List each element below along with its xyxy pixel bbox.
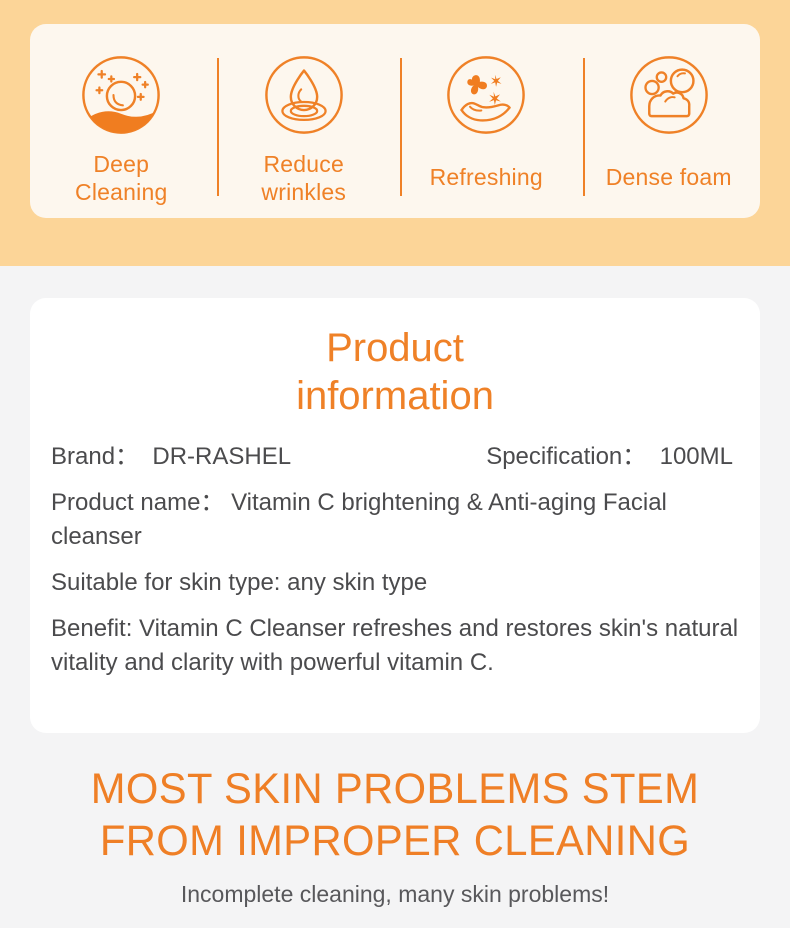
specification-value: Specification： 100ML <box>486 440 739 474</box>
feature-item-reduce-wrinkles[interactable]: Reduce wrinkles <box>213 24 396 218</box>
skin-type-value: Suitable for skin type: any skin type <box>51 566 739 600</box>
brand-specification-row: Brand： DR-RASHEL Specification： 100ML <box>51 440 739 474</box>
foam-bubbles-icon <box>622 48 716 142</box>
feature-item-dense-foam[interactable]: Dense foam <box>578 24 761 218</box>
feature-label: Refreshing <box>430 163 543 191</box>
headline-subtitle: Incomplete cleaning, many skin problems! <box>0 867 790 909</box>
sparkle-face-icon <box>74 48 168 142</box>
feature-banner: Deep Cleaning Reduce wrinkles <box>0 0 790 266</box>
product-information-body: Brand： DR-RASHEL Specification： 100ML Pr… <box>30 420 760 680</box>
feature-divider <box>583 58 585 196</box>
benefit-value: Benefit: Vitamin C Cleanser refreshes an… <box>51 612 739 680</box>
feature-list: Deep Cleaning Reduce wrinkles <box>30 24 760 218</box>
feature-divider <box>400 58 402 196</box>
product-information-card: Product information Brand： DR-RASHEL Spe… <box>30 298 760 733</box>
water-droplet-icon <box>257 48 351 142</box>
feature-item-refreshing[interactable]: Refreshing <box>395 24 578 218</box>
headline-section: MOST SKIN PROBLEMS STEM FROM IMPROPER CL… <box>0 733 790 928</box>
page-title: Product information <box>30 298 760 420</box>
feature-divider <box>217 58 219 196</box>
feature-label: Reduce wrinkles <box>261 150 346 206</box>
feature-item-deep-cleaning[interactable]: Deep Cleaning <box>30 24 213 218</box>
feature-label: Dense foam <box>606 163 732 191</box>
product-name-value: Product name： Vitamin C brightening & An… <box>51 486 739 554</box>
headline-title: MOST SKIN PROBLEMS STEM FROM IMPROPER CL… <box>12 733 778 867</box>
feature-card: Deep Cleaning Reduce wrinkles <box>30 24 760 218</box>
feature-label: Deep Cleaning <box>75 150 167 206</box>
brand-value: Brand： DR-RASHEL <box>51 440 291 474</box>
hand-flower-icon <box>439 48 533 142</box>
